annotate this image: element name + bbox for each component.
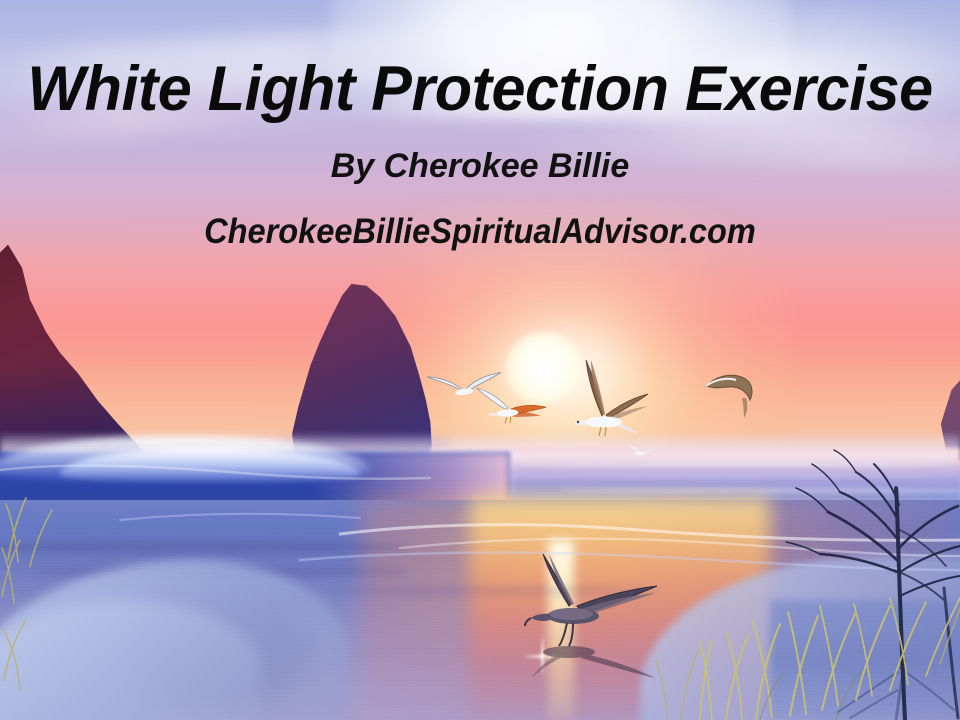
gull-icon [427, 367, 504, 400]
sand-bank-highlight [0, 600, 260, 720]
sea-band [470, 474, 960, 478]
breaking-surf-inner [420, 530, 960, 572]
gull-icon [477, 383, 547, 425]
breaking-surf [330, 516, 960, 578]
bank-shadow [120, 590, 310, 710]
gull-icon [706, 375, 752, 418]
title-slide: White Light Protection Exercise By Chero… [0, 0, 960, 720]
sea-stack [286, 282, 438, 472]
wave-crest [60, 448, 360, 482]
left-cliff [0, 240, 194, 470]
ocean-left-sunlight [0, 452, 510, 540]
page-title: White Light Protection Exercise [14, 56, 945, 122]
sun-reflection-core [548, 540, 574, 720]
sea-stack-base-mist [282, 440, 450, 480]
distant-surf [0, 432, 960, 486]
gull-icon [574, 360, 648, 436]
dune-grass-icon [700, 598, 960, 720]
swash-line [330, 586, 660, 596]
sea-band [520, 462, 940, 467]
ocean-right [430, 448, 960, 540]
author-byline: By Cherokee Billie [0, 148, 960, 185]
sun-disc-icon [505, 332, 583, 404]
gull-icon [627, 444, 657, 455]
left-cliff-shadow [0, 240, 194, 470]
dune [640, 556, 960, 720]
sea-band [560, 488, 960, 493]
right-rock [930, 370, 960, 460]
tree-icon [786, 450, 960, 720]
website-url: CherokeeBillieSpiritualAdvisor.com [34, 213, 927, 252]
wave-crest [0, 436, 370, 482]
sun-reflection-column [470, 498, 770, 720]
swash-line [0, 540, 410, 554]
wet-sand [0, 500, 960, 720]
surf-shadow [360, 560, 960, 588]
sun-reflection-wide [360, 498, 960, 720]
swash-line [30, 566, 410, 578]
tidal-pool [770, 600, 960, 720]
sea-band [450, 500, 960, 504]
ocean-left [0, 452, 510, 540]
sparkle-icon [522, 636, 562, 676]
sand-bank [0, 560, 350, 720]
gull-icon [525, 554, 657, 678]
